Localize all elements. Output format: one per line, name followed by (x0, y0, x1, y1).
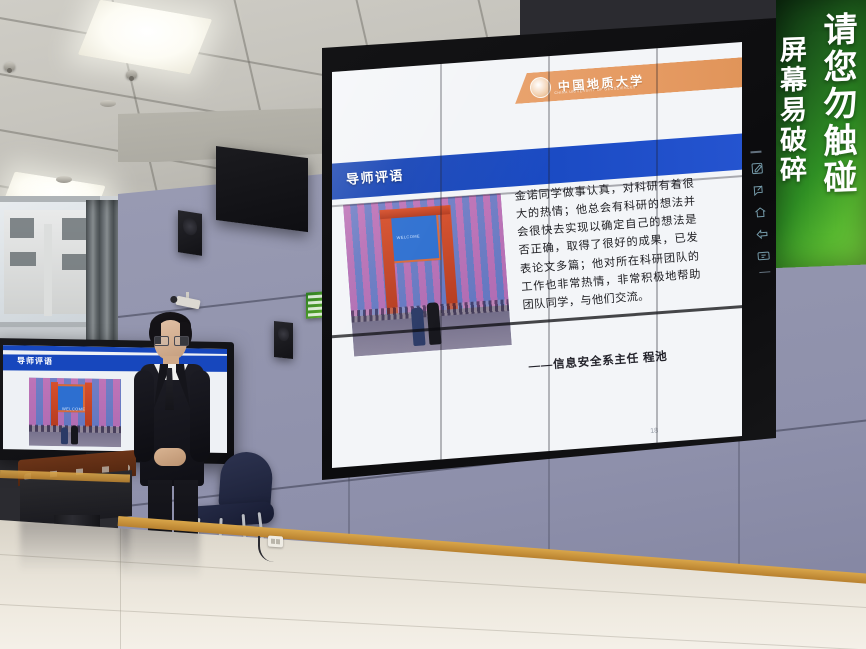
banner-line-1: 请您勿触碰 (813, 11, 862, 267)
wall-mounted-display (216, 146, 308, 232)
smoke-detector (100, 100, 116, 107)
exterior-window (10, 252, 36, 266)
annotate-icon[interactable] (750, 161, 764, 175)
window-mullion (44, 224, 52, 316)
video-wall-panels[interactable]: 中国地质大学 CHINA UNIVERSITY OF GEOSCIENCES 导… (332, 36, 742, 468)
secondary-slide-photo (29, 378, 121, 448)
presenter-arm (190, 370, 210, 462)
home-icon[interactable] (753, 205, 767, 219)
exterior-window (62, 254, 86, 270)
back-icon[interactable] (755, 227, 769, 241)
smoke-detector (56, 176, 72, 183)
presentation-slide[interactable]: 中国地质大学 CHINA UNIVERSITY OF GEOSCIENCES 导… (332, 36, 742, 468)
control-divider (759, 271, 770, 273)
slide-body-text: 金诺同学做事认真，对科研有着很大的热情；他总会有科研的想法并会很快去实现以确定自… (514, 175, 703, 315)
whiteboard-icon[interactable] (751, 183, 765, 197)
control-divider (750, 151, 761, 153)
presenter-glasses (154, 336, 187, 344)
screen-share-icon[interactable] (756, 249, 770, 263)
panel-seam (656, 36, 658, 468)
exterior-window (62, 218, 86, 240)
window-mullion (0, 196, 100, 202)
video-wall[interactable]: 中国地质大学 CHINA UNIVERSITY OF GEOSCIENCES 导… (318, 18, 780, 480)
exterior-window (10, 218, 34, 238)
presenter-arm (134, 370, 154, 462)
panel-seam (440, 36, 442, 468)
wall-speaker (274, 321, 293, 359)
secondary-slide-title: 导师评语 (17, 355, 53, 367)
window-mullion (0, 322, 100, 327)
presenter-hands (154, 448, 186, 466)
wall-speaker (178, 210, 202, 256)
warning-banner: 请您勿触碰 屏幕易破碎 (776, 0, 866, 268)
slide-attribution: ——信息安全系主任 程池 (528, 344, 719, 374)
room-scene: 请您勿触碰 屏幕易破碎 中国地质大学 CHINA UNIVERSITY OF G… (0, 0, 866, 649)
panel-seam (548, 36, 550, 468)
sprinkler-head (4, 62, 15, 71)
floor-tile-line (0, 604, 866, 649)
sprinkler-head (126, 70, 137, 79)
